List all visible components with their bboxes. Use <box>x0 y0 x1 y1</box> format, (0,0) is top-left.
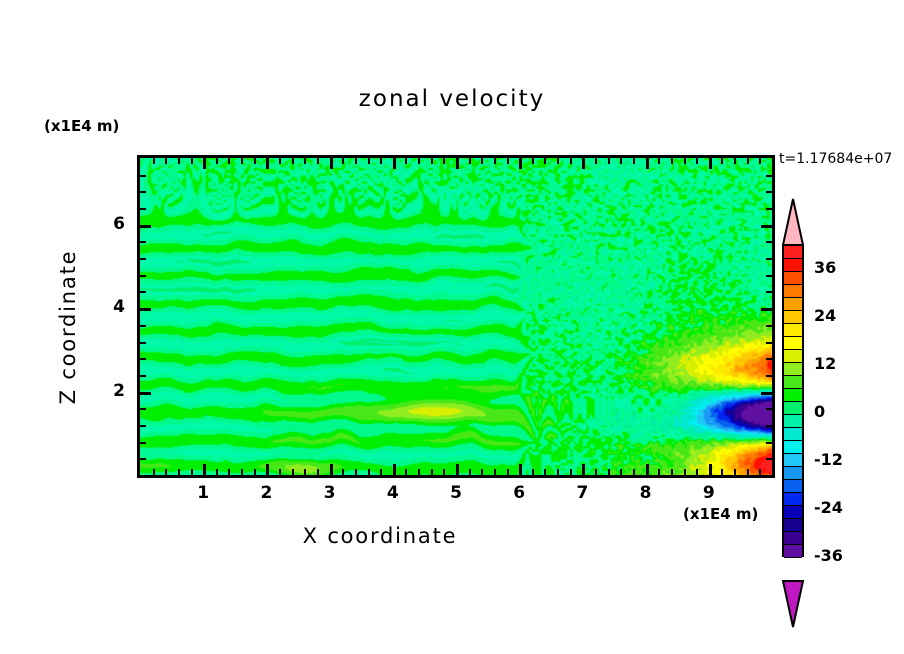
colorbar-band <box>784 349 802 363</box>
colorbar-band <box>784 323 802 337</box>
colorbar-band <box>784 479 802 493</box>
colorbar-tick-label: -12 <box>814 450 843 469</box>
x-tick-minor-top <box>178 158 180 164</box>
x-tick-minor <box>709 464 712 475</box>
y-tick-minor <box>140 358 146 360</box>
x-tick-minor-top <box>342 158 344 164</box>
x-tick-minor <box>608 469 610 475</box>
x-tick-minor-top <box>633 158 635 164</box>
colorbar-band <box>784 258 802 272</box>
x-tick-minor <box>481 469 483 475</box>
x-tick-minor <box>178 469 180 475</box>
y-tick-minor <box>140 308 151 311</box>
x-tick-minor <box>431 469 433 475</box>
x-tick-minor <box>216 469 218 475</box>
y-tick-label: 6 <box>95 214 125 234</box>
x-tick-minor-top <box>456 158 459 169</box>
x-tick-minor-top <box>228 158 230 164</box>
x-tick-minor <box>747 469 749 475</box>
x-tick-minor <box>342 469 344 475</box>
colorbar-band <box>784 440 802 454</box>
x-tick-label: 4 <box>378 483 408 503</box>
x-tick-minor-top <box>759 158 761 164</box>
x-tick-minor-top <box>469 158 471 164</box>
x-tick-label: 7 <box>567 483 597 503</box>
x-tick-minor <box>595 469 597 475</box>
x-tick-minor-top <box>418 158 420 164</box>
y-tick-minor <box>140 241 146 243</box>
x-tick-minor-top <box>191 158 193 164</box>
x-tick-minor-top <box>481 158 483 164</box>
y-tick-minor <box>140 275 146 277</box>
x-tick-minor <box>254 469 256 475</box>
y-tick-minor <box>140 291 146 293</box>
x-tick-minor-top <box>646 158 649 169</box>
colorbar-band <box>784 492 802 506</box>
colorbar-band <box>784 375 802 389</box>
x-tick-minor-top <box>582 158 585 169</box>
x-tick-minor <box>393 464 396 475</box>
colorbar-band <box>784 518 802 532</box>
y-tick-minor-right <box>766 458 772 460</box>
colorbar-tick-label: 0 <box>814 402 825 421</box>
x-tick-minor <box>696 469 698 475</box>
x-tick-minor <box>671 469 673 475</box>
x-tick-minor-top <box>684 158 686 164</box>
y-tick-minor <box>140 175 146 177</box>
y-axis-unit-label: (x1E4 m) <box>44 117 119 135</box>
x-tick-minor <box>317 469 319 475</box>
x-tick-minor <box>203 464 206 475</box>
x-tick-minor-top <box>405 158 407 164</box>
y-tick-minor-right <box>766 425 772 427</box>
y-tick-minor <box>140 408 146 410</box>
contour-plot-figure: zonal velocity (x1E4 m) t=1.17684e+07 12… <box>0 0 904 654</box>
x-tick-minor <box>646 464 649 475</box>
x-tick-minor <box>355 469 357 475</box>
x-tick-minor <box>469 469 471 475</box>
colorbar-band <box>784 362 802 376</box>
x-tick-minor <box>620 469 622 475</box>
x-tick-minor <box>772 464 775 475</box>
page-title: zonal velocity <box>0 86 904 112</box>
x-tick-minor-top <box>658 158 660 164</box>
x-axis-caption: X coordinate <box>0 524 760 548</box>
y-tick-minor-right <box>766 375 772 377</box>
colorbar-band <box>784 310 802 324</box>
x-tick-minor <box>633 469 635 475</box>
y-tick-minor-right <box>766 175 772 177</box>
colorbar-band <box>784 531 802 545</box>
colorbar-band <box>784 466 802 480</box>
x-tick-minor <box>684 469 686 475</box>
y-tick-minor-right <box>766 258 772 260</box>
x-tick-minor-top <box>254 158 256 164</box>
colorbar-band <box>784 245 802 259</box>
x-tick-minor-top <box>431 158 433 164</box>
x-tick-minor <box>658 469 660 475</box>
y-tick-label: 4 <box>95 297 125 317</box>
x-tick-minor-top <box>519 158 522 169</box>
x-tick-minor <box>544 469 546 475</box>
contour-field <box>140 158 772 475</box>
colorbar-band <box>784 271 802 285</box>
x-tick-minor <box>734 469 736 475</box>
colorbar-tick-label: 36 <box>814 258 836 277</box>
x-tick-label: 1 <box>188 483 218 503</box>
colorbar-band <box>784 401 802 415</box>
y-tick-minor <box>140 342 146 344</box>
x-tick-minor <box>292 469 294 475</box>
x-tick-label: 9 <box>694 483 724 503</box>
x-tick-minor <box>582 464 585 475</box>
colorbar-band <box>784 505 802 519</box>
x-tick-minor <box>330 464 333 475</box>
colorbar-band <box>784 388 802 402</box>
x-tick-minor-top <box>557 158 559 164</box>
y-tick-minor <box>140 258 146 260</box>
y-tick-minor <box>140 392 151 395</box>
x-tick-minor-top <box>330 158 333 169</box>
colorbar-tick-label: 24 <box>814 306 836 325</box>
x-tick-minor <box>507 469 509 475</box>
time-annotation: t=1.17684e+07 <box>779 151 892 167</box>
colorbar-tick-label: 12 <box>814 354 836 373</box>
x-tick-minor-top <box>165 158 167 164</box>
x-tick-minor-top <box>608 158 610 164</box>
x-tick-minor-top <box>507 158 509 164</box>
y-tick-minor <box>140 208 146 210</box>
x-tick-minor <box>241 469 243 475</box>
y-tick-minor-right <box>761 225 772 228</box>
y-tick-minor-right <box>766 241 772 243</box>
x-tick-minor-top <box>203 158 206 169</box>
x-tick-minor <box>570 469 572 475</box>
y-tick-minor-right <box>766 275 772 277</box>
x-tick-minor-top <box>292 158 294 164</box>
x-tick-minor-top <box>544 158 546 164</box>
x-tick-minor <box>443 469 445 475</box>
x-tick-minor-top <box>266 158 269 169</box>
x-tick-minor <box>191 469 193 475</box>
x-tick-minor-top <box>443 158 445 164</box>
x-tick-minor <box>405 469 407 475</box>
y-tick-label: 2 <box>95 381 125 401</box>
x-tick-minor <box>456 464 459 475</box>
y-tick-minor <box>140 375 146 377</box>
y-tick-minor <box>140 425 146 427</box>
colorbar-band <box>784 427 802 441</box>
y-tick-minor-right <box>766 208 772 210</box>
colorbar-band <box>784 453 802 467</box>
x-tick-minor <box>304 469 306 475</box>
x-tick-minor <box>153 469 155 475</box>
colorbar-band <box>784 414 802 428</box>
colorbar-tick-label: -36 <box>814 546 843 565</box>
colorbar-over-arrow-icon <box>782 198 804 246</box>
y-tick-minor <box>140 191 146 193</box>
x-tick-minor-top <box>241 158 243 164</box>
x-tick-minor <box>557 469 559 475</box>
y-tick-minor-right <box>761 392 772 395</box>
colorbar-band <box>784 284 802 298</box>
x-tick-minor <box>519 464 522 475</box>
colorbar-tick-label: -24 <box>814 498 843 517</box>
x-tick-label: 2 <box>251 483 281 503</box>
x-tick-minor-top <box>368 158 370 164</box>
x-tick-minor-top <box>747 158 749 164</box>
y-tick-minor-right <box>766 408 772 410</box>
colorbar-bands <box>782 245 804 557</box>
x-tick-minor-top <box>570 158 572 164</box>
x-tick-minor-top <box>317 158 319 164</box>
colorbar-band <box>784 297 802 311</box>
y-tick-minor <box>140 442 146 444</box>
colorbar-band <box>784 544 802 558</box>
y-tick-minor-right <box>766 191 772 193</box>
x-tick-minor-top <box>380 158 382 164</box>
x-tick-minor <box>532 469 534 475</box>
x-tick-minor-top <box>216 158 218 164</box>
x-tick-label: 8 <box>631 483 661 503</box>
x-tick-minor-top <box>304 158 306 164</box>
x-tick-minor-top <box>709 158 712 169</box>
x-tick-minor-top <box>696 158 698 164</box>
x-tick-minor <box>759 469 761 475</box>
x-tick-minor <box>721 469 723 475</box>
x-tick-minor-top <box>620 158 622 164</box>
x-tick-minor <box>165 469 167 475</box>
plot-area[interactable] <box>137 155 775 478</box>
x-tick-minor-top <box>279 158 281 164</box>
x-tick-minor <box>368 469 370 475</box>
x-tick-minor-top <box>721 158 723 164</box>
x-tick-minor <box>418 469 420 475</box>
y-tick-minor <box>140 458 146 460</box>
x-tick-minor-top <box>494 158 496 164</box>
y-tick-minor-right <box>766 342 772 344</box>
x-tick-minor <box>380 469 382 475</box>
x-tick-minor-top <box>671 158 673 164</box>
x-tick-label: 5 <box>441 483 471 503</box>
y-tick-minor-right <box>766 291 772 293</box>
x-tick-minor-top <box>532 158 534 164</box>
y-tick-minor-right <box>766 442 772 444</box>
y-tick-minor-right <box>761 308 772 311</box>
y-tick-minor-right <box>766 358 772 360</box>
x-tick-minor-top <box>355 158 357 164</box>
y-tick-minor-right <box>766 325 772 327</box>
x-tick-minor-top <box>393 158 396 169</box>
x-tick-minor-top <box>734 158 736 164</box>
x-tick-minor-top <box>595 158 597 164</box>
x-tick-minor-top <box>772 158 775 169</box>
y-axis-caption: Z coordinate <box>56 207 80 447</box>
y-tick-minor <box>140 325 146 327</box>
x-tick-minor <box>228 469 230 475</box>
colorbar-under-arrow-icon <box>782 580 804 628</box>
x-tick-minor-top <box>153 158 155 164</box>
x-tick-minor <box>494 469 496 475</box>
colorbar-band <box>784 336 802 350</box>
x-tick-label: 3 <box>315 483 345 503</box>
x-tick-minor <box>266 464 269 475</box>
x-tick-label: 6 <box>504 483 534 503</box>
x-tick-minor <box>279 469 281 475</box>
x-axis-unit-label: (x1E4 m) <box>683 505 758 523</box>
y-tick-minor <box>140 225 151 228</box>
